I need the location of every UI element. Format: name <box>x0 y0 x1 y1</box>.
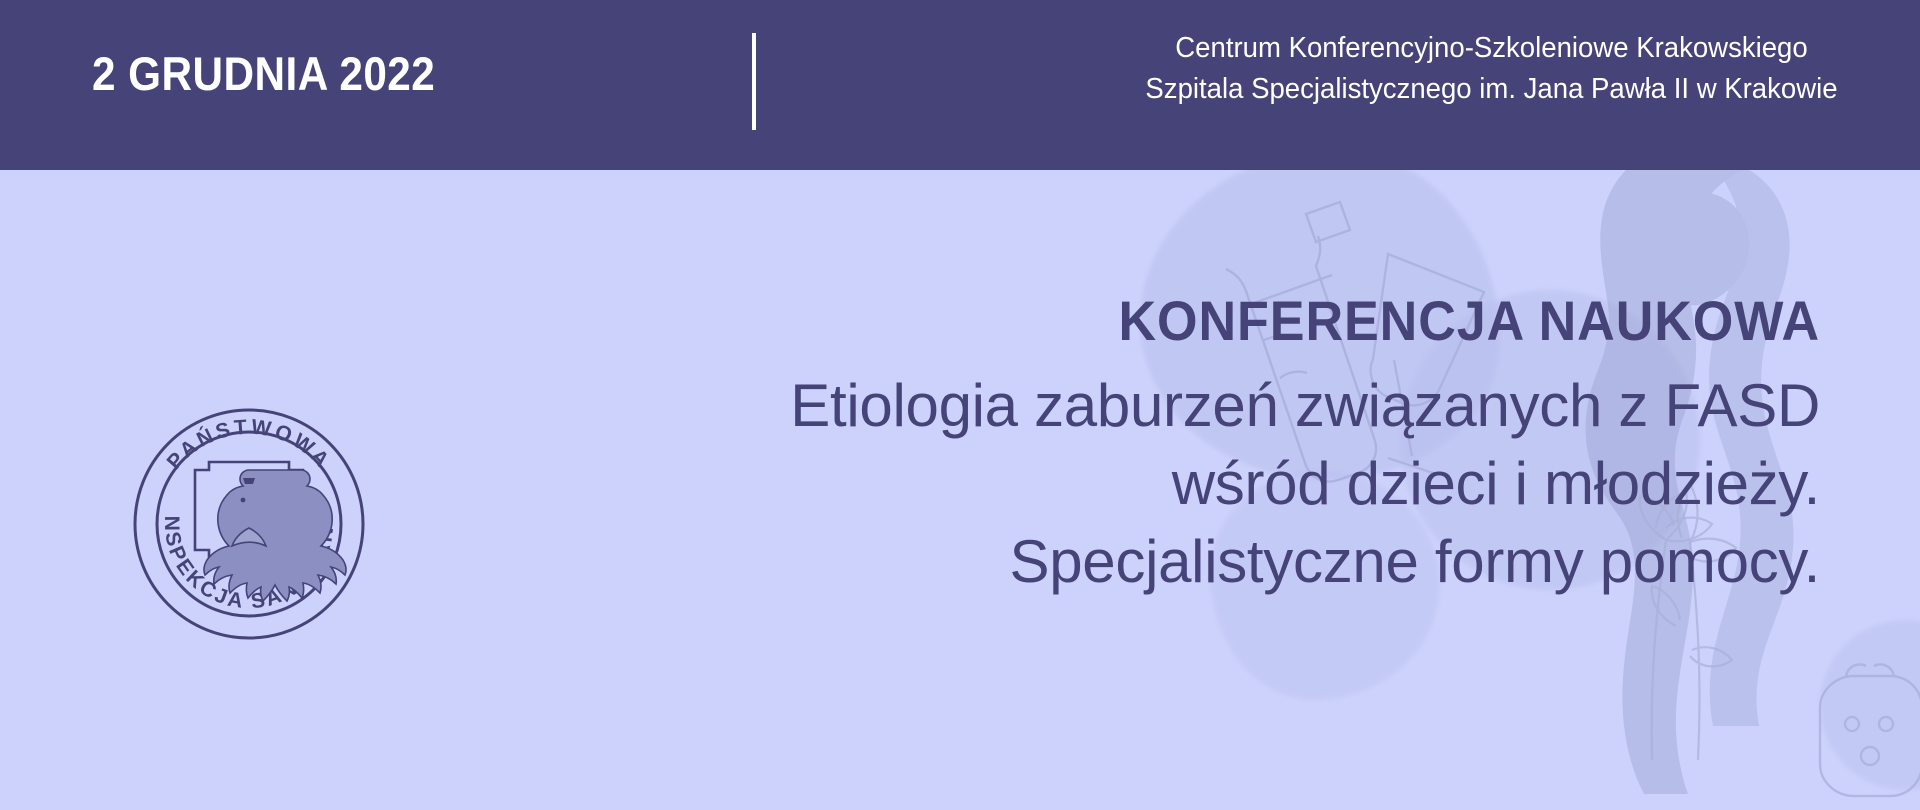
header-bar: 2 GRUDNIA 2022 Centrum Konferencyjno-Szk… <box>0 0 1920 170</box>
decorative-blob <box>1820 620 1920 790</box>
panstwowa-inspekcja-sanitarna-seal: PAŃSTWOWA INSPEKCJA SANITARNA <box>133 408 365 640</box>
header-divider <box>752 33 756 130</box>
title-line-3: Specjalistyczne formy pomocy. <box>740 523 1820 601</box>
child-icon <box>1790 660 1920 810</box>
conference-copy: KONFERENCJA NAUKOWA Etiologia zaburzeń z… <box>740 290 1820 601</box>
title-line-1: Etiologia zaburzeń związanych z FASD <box>740 367 1820 445</box>
conference-banner: 2 GRUDNIA 2022 Centrum Konferencyjno-Szk… <box>0 0 1920 810</box>
conference-kicker: KONFERENCJA NAUKOWA <box>816 290 1820 353</box>
title-line-2: wśród dzieci i młodzieży. <box>740 445 1820 523</box>
venue-line-1: Centrum Konferencyjno-Szkoleniowe Krakow… <box>1146 28 1838 69</box>
polish-eagle-emblem <box>204 470 346 601</box>
conference-title: Etiologia zaburzeń związanych z FASD wśr… <box>740 367 1820 601</box>
venue-info: Centrum Konferencyjno-Szkoleniowe Krakow… <box>1146 28 1838 110</box>
event-date: 2 GRUDNIA 2022 <box>92 50 435 97</box>
seal-arc-top-text: PAŃSTWOWA <box>163 415 336 473</box>
venue-line-2: Szpitala Specjalistycznego im. Jana Pawł… <box>1146 69 1838 110</box>
